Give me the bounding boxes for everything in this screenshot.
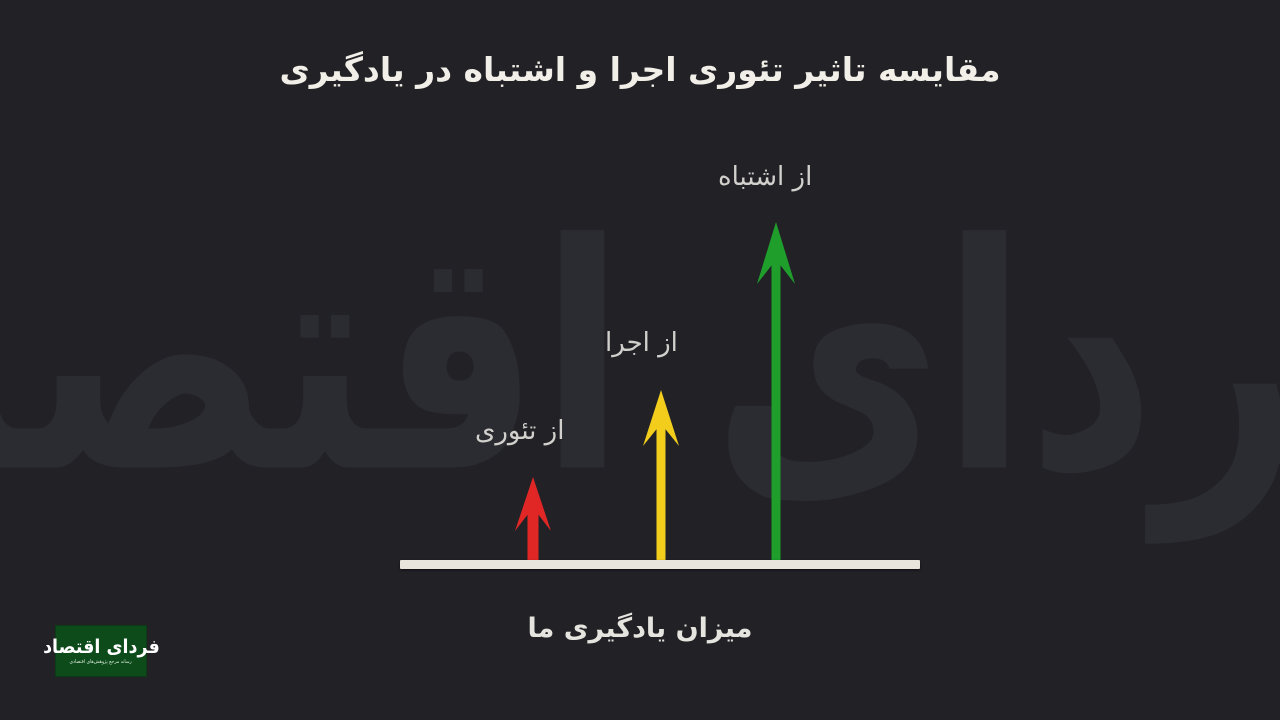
arrow-polygon-1 xyxy=(515,477,551,565)
brand-logo[interactable]: فردای اقتصاد رسانه مرجع پژوهش‌های اقتصاد… xyxy=(55,625,147,677)
x-axis-label-text: میزان یادگیری ما xyxy=(528,615,753,642)
brand-logo-name: فردای اقتصاد xyxy=(43,638,160,657)
page-title: مقایسه تاثیر تئوری اجرا و اشتباه در یادگ… xyxy=(0,48,1280,93)
arrow-label-3: از اشتباه xyxy=(718,164,812,190)
chart-plot-area: از تئوریاز اجرااز اشتباه xyxy=(0,0,1280,720)
arrow-polygon-2 xyxy=(643,390,679,565)
x-axis-label: میزان یادگیری ما xyxy=(0,615,1280,642)
arrow-1 xyxy=(513,477,553,565)
arrow-2 xyxy=(641,390,681,565)
arrow-shape-2 xyxy=(641,390,681,565)
arrow-3 xyxy=(755,222,797,565)
arrow-polygon-3 xyxy=(757,222,795,565)
arrow-shape-3 xyxy=(755,222,797,565)
page-title-text: مقایسه تاثیر تئوری اجرا و اشتباه در یادگ… xyxy=(279,48,1000,93)
arrow-shape-1 xyxy=(513,477,553,565)
arrow-label-2: از اجرا xyxy=(605,330,678,356)
arrow-label-1: از تئوری xyxy=(475,418,564,444)
brand-logo-tagline: رسانه مرجع پژوهش‌های اقتصادی xyxy=(70,660,132,665)
chart-baseline xyxy=(400,560,920,569)
